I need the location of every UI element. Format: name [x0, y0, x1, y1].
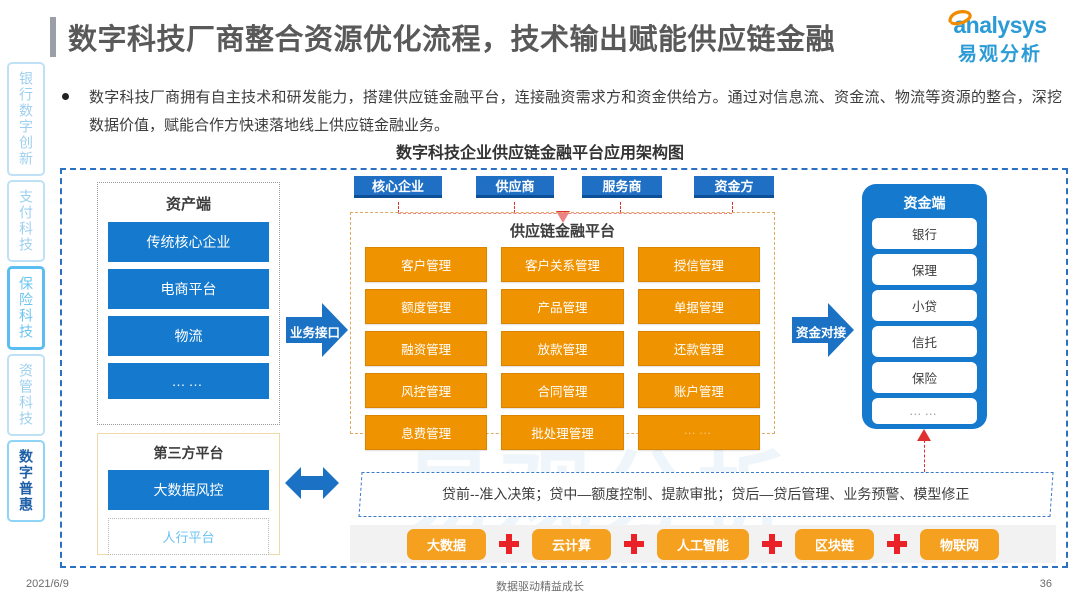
tech-blockchain[interactable]: 区块链 [795, 529, 874, 560]
fund-item-bank[interactable]: 银行 [872, 218, 977, 249]
footer-page-number: 36 [1040, 578, 1052, 590]
connector-arrow-up-icon [917, 429, 931, 442]
tag-supplier[interactable]: 供应商 [476, 176, 554, 198]
fund-item-insurance[interactable]: 保险 [872, 362, 977, 393]
asset-item-more[interactable]: …… [108, 363, 269, 399]
module-loan-disbursement[interactable]: 放款管理 [501, 331, 623, 366]
architecture-diagram: 易观分析 资产端 传统核心企业 电商平台 物流 …… 第三方平台 大数据风控 人… [60, 168, 1068, 568]
module-contract-management[interactable]: 合同管理 [501, 373, 623, 408]
module-product-management[interactable]: 产品管理 [501, 289, 623, 324]
third-party-panel: 第三方平台 大数据风控 人行平台 [97, 433, 280, 555]
footer-slogan: 数据驱动精益成长 [0, 578, 1080, 594]
page-title: 数字科技厂商整合资源优化流程，技术输出赋能供应链金融 [68, 16, 835, 58]
plus-icon-3 [762, 534, 782, 554]
bidirectional-arrow [285, 465, 339, 501]
module-repayment-management[interactable]: 还款管理 [638, 331, 760, 366]
module-quota-management[interactable]: 额度管理 [365, 289, 487, 324]
fund-item-factoring[interactable]: 保理 [872, 254, 977, 285]
tag-fund-provider[interactable]: 资金方 [694, 176, 774, 198]
business-interface-label: 业务接口 [290, 322, 340, 341]
bullet-dot-icon [62, 93, 69, 100]
asset-item-ecommerce[interactable]: 电商平台 [108, 269, 269, 309]
module-fee-management[interactable]: 息费管理 [365, 415, 487, 450]
fund-side-panel: 资金端 银行 保理 小贷 信托 保险 …… [862, 184, 987, 429]
tech-cloud[interactable]: 云计算 [532, 529, 611, 560]
plus-icon-4 [887, 534, 907, 554]
module-account-management[interactable]: 账户管理 [638, 373, 760, 408]
analysys-logo: analysys 易观分析 [940, 12, 1060, 66]
module-customer-management[interactable]: 客户管理 [365, 247, 487, 282]
module-credit-granting[interactable]: 授信管理 [638, 247, 760, 282]
module-risk-control[interactable]: 风控管理 [365, 373, 487, 408]
plus-icon-1 [499, 534, 519, 554]
asset-item-core-enterprise[interactable]: 传统核心企业 [108, 222, 269, 262]
bullet-text: 数字科技厂商拥有自主技术和研发能力，搭建供应链金融平台，连接融资需求方和资金供给… [89, 84, 1062, 140]
architecture-diagram-title: 数字科技企业供应链金融平台应用架构图 [0, 139, 1080, 163]
title-accent-bar [50, 17, 56, 57]
third-party-pboc-platform[interactable]: 人行平台 [108, 518, 269, 555]
fund-panel-title: 资金端 [872, 193, 977, 213]
third-party-title: 第三方平台 [108, 443, 269, 463]
supply-chain-finance-platform: 供应链金融平台 客户管理 客户关系管理 授信管理 额度管理 产品管理 单据管理 … [350, 212, 775, 434]
sidebar-tabs: 银行数字创新 支付科技 保险科技 资管科技 数字普惠 [6, 62, 46, 522]
loan-lifecycle-text: 贷前--准入决策；贷中—额度控制、提款审批；贷后—贷后管理、业务预警、模型修正 [442, 484, 969, 505]
module-crm[interactable]: 客户关系管理 [501, 247, 623, 282]
third-party-bigdata-risk[interactable]: 大数据风控 [108, 470, 269, 510]
participant-tags: 核心企业 供应商 服务商 资金方 [354, 176, 774, 202]
asset-item-logistics[interactable]: 物流 [108, 316, 269, 356]
fund-connection-label: 资金对接 [796, 322, 846, 341]
sidebar-item-payment-tech[interactable]: 支付科技 [7, 180, 45, 262]
fund-item-trust[interactable]: 信托 [872, 326, 977, 357]
asset-panel-title: 资产端 [108, 193, 269, 214]
module-batch-processing[interactable]: 批处理管理 [501, 415, 623, 450]
technology-stack-strip: 大数据 云计算 人工智能 区块链 物联网 [350, 525, 1056, 563]
fund-item-microloan[interactable]: 小贷 [872, 290, 977, 321]
module-document-management[interactable]: 单据管理 [638, 289, 760, 324]
tech-iot[interactable]: 物联网 [920, 529, 999, 560]
business-interface-arrow: 业务接口 [286, 303, 348, 357]
swoosh-icon [948, 7, 972, 27]
logo-wordmark-row: analysys [940, 12, 1060, 38]
module-more[interactable]: …… [638, 415, 760, 450]
connector-fund-vertical [924, 440, 925, 472]
tech-ai[interactable]: 人工智能 [657, 529, 749, 560]
sidebar-item-asset-management-tech[interactable]: 资管科技 [7, 354, 45, 436]
tech-bigdata[interactable]: 大数据 [407, 529, 486, 560]
plus-icon-2 [624, 534, 644, 554]
sidebar-item-digital-inclusive[interactable]: 数字普惠 [7, 440, 45, 522]
sidebar-item-insurance-tech[interactable]: 保险科技 [7, 266, 45, 350]
slide: 数字科技厂商整合资源优化流程，技术输出赋能供应链金融 analysys 易观分析… [0, 0, 1080, 608]
tag-core-enterprise[interactable]: 核心企业 [354, 176, 442, 198]
tag-service-provider[interactable]: 服务商 [582, 176, 662, 198]
platform-title: 供应链金融平台 [351, 220, 774, 241]
bullet-paragraph: 数字科技厂商拥有自主技术和研发能力，搭建供应链金融平台，连接融资需求方和资金供给… [62, 84, 1062, 140]
module-financing-management[interactable]: 融资管理 [365, 331, 487, 366]
arrow-left-right-icon [285, 465, 339, 501]
footer: 2021/6/9 数据驱动精益成长 36 [0, 578, 1080, 600]
fund-item-more[interactable]: …… [872, 398, 977, 424]
platform-module-grid: 客户管理 客户关系管理 授信管理 额度管理 产品管理 单据管理 融资管理 放款管… [351, 247, 774, 450]
logo-chinese: 易观分析 [940, 39, 1060, 66]
page-title-bar: 数字科技厂商整合资源优化流程，技术输出赋能供应链金融 [50, 16, 835, 58]
loan-lifecycle-note: 贷前--准入决策；贷中—额度控制、提款审批；贷后—贷后管理、业务预警、模型修正 [358, 472, 1053, 517]
asset-side-panel: 资产端 传统核心企业 电商平台 物流 …… [97, 182, 280, 425]
fund-connection-arrow: 资金对接 [792, 303, 854, 357]
